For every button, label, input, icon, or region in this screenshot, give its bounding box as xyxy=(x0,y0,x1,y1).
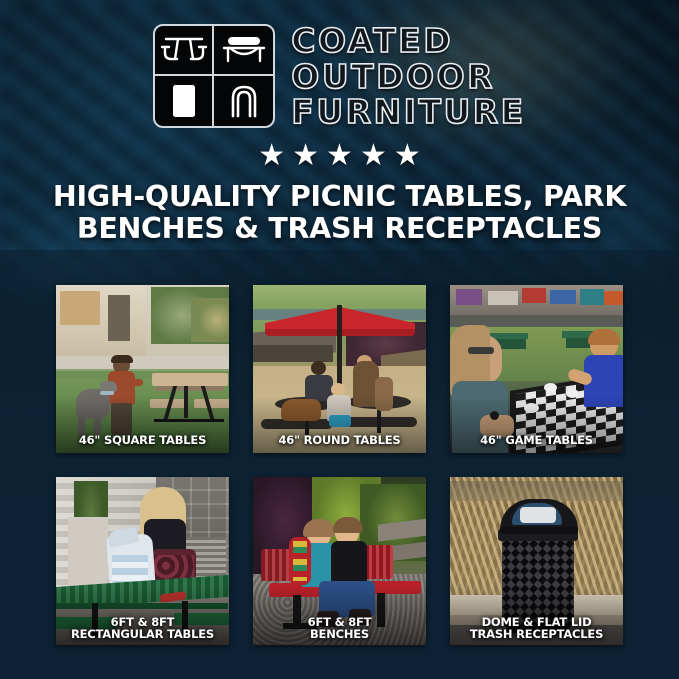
product-photo-game-tables xyxy=(450,285,623,453)
brand-logo: COATED OUTDOOR FURNITURE xyxy=(0,0,679,129)
product-grid: 46" SQUARE TABLES xyxy=(56,285,624,645)
product-caption: 46" ROUND TABLES xyxy=(253,434,426,447)
headline-line-1: HIGH-QUALITY PICNIC TABLES, PARK xyxy=(14,181,665,213)
brand-word-outdoor: OUTDOOR xyxy=(291,60,525,94)
promotional-banner: COATED OUTDOOR FURNITURE ★ ★ ★ ★ ★ HIGH-… xyxy=(0,0,679,679)
bike-rack-icon xyxy=(214,76,273,126)
product-caption: 6FT & 8FT BENCHES xyxy=(253,616,426,641)
brand-logo-icon-grid xyxy=(153,24,275,128)
brand-word-coated: COATED xyxy=(291,24,525,58)
star-icon-4: ★ xyxy=(360,141,387,171)
product-caption: 6FT & 8FT RECTANGULAR TABLES xyxy=(56,616,229,641)
star-rating: ★ ★ ★ ★ ★ xyxy=(0,141,679,171)
headline: HIGH-QUALITY PICNIC TABLES, PARK BENCHES… xyxy=(14,181,665,246)
brand-wordmark: COATED OUTDOOR FURNITURE xyxy=(291,24,525,129)
picnic-table-icon xyxy=(155,26,214,76)
headline-line-2: BENCHES & TRASH RECEPTACLES xyxy=(14,213,665,245)
star-icon-2: ★ xyxy=(292,141,319,171)
product-caption-line-2: BENCHES xyxy=(257,628,422,641)
product-caption-line-1: 46" GAME TABLES xyxy=(454,434,619,447)
product-tile-game-tables[interactable]: 46" GAME TABLES xyxy=(450,285,623,453)
park-bench-icon xyxy=(214,26,273,76)
product-caption-line-2: TRASH RECEPTACLES xyxy=(454,628,619,641)
product-tile-benches[interactable]: 6FT & 8FT BENCHES xyxy=(253,477,426,645)
product-photo-round-tables xyxy=(253,285,426,453)
product-caption: DOME & FLAT LID TRASH RECEPTACLES xyxy=(450,616,623,641)
star-icon-1: ★ xyxy=(258,141,285,171)
trash-receptacle-icon xyxy=(155,76,214,126)
product-tile-round-tables[interactable]: 46" ROUND TABLES xyxy=(253,285,426,453)
product-photo-square-tables xyxy=(56,285,229,453)
product-caption-line-1: 46" SQUARE TABLES xyxy=(60,434,225,447)
product-tile-trash-receptacles[interactable]: DOME & FLAT LID TRASH RECEPTACLES xyxy=(450,477,623,645)
star-icon-3: ★ xyxy=(326,141,353,171)
product-caption: 46" GAME TABLES xyxy=(450,434,623,447)
banner-header: COATED OUTDOOR FURNITURE ★ ★ ★ ★ ★ HIGH-… xyxy=(0,0,679,246)
product-caption-line-2: RECTANGULAR TABLES xyxy=(60,628,225,641)
product-caption-line-1: 46" ROUND TABLES xyxy=(257,434,422,447)
product-tile-rectangular-tables[interactable]: 6FT & 8FT RECTANGULAR TABLES xyxy=(56,477,229,645)
product-tile-square-tables[interactable]: 46" SQUARE TABLES xyxy=(56,285,229,453)
brand-word-furniture: FURNITURE xyxy=(291,95,525,129)
product-caption: 46" SQUARE TABLES xyxy=(56,434,229,447)
star-icon-5: ★ xyxy=(394,141,421,171)
